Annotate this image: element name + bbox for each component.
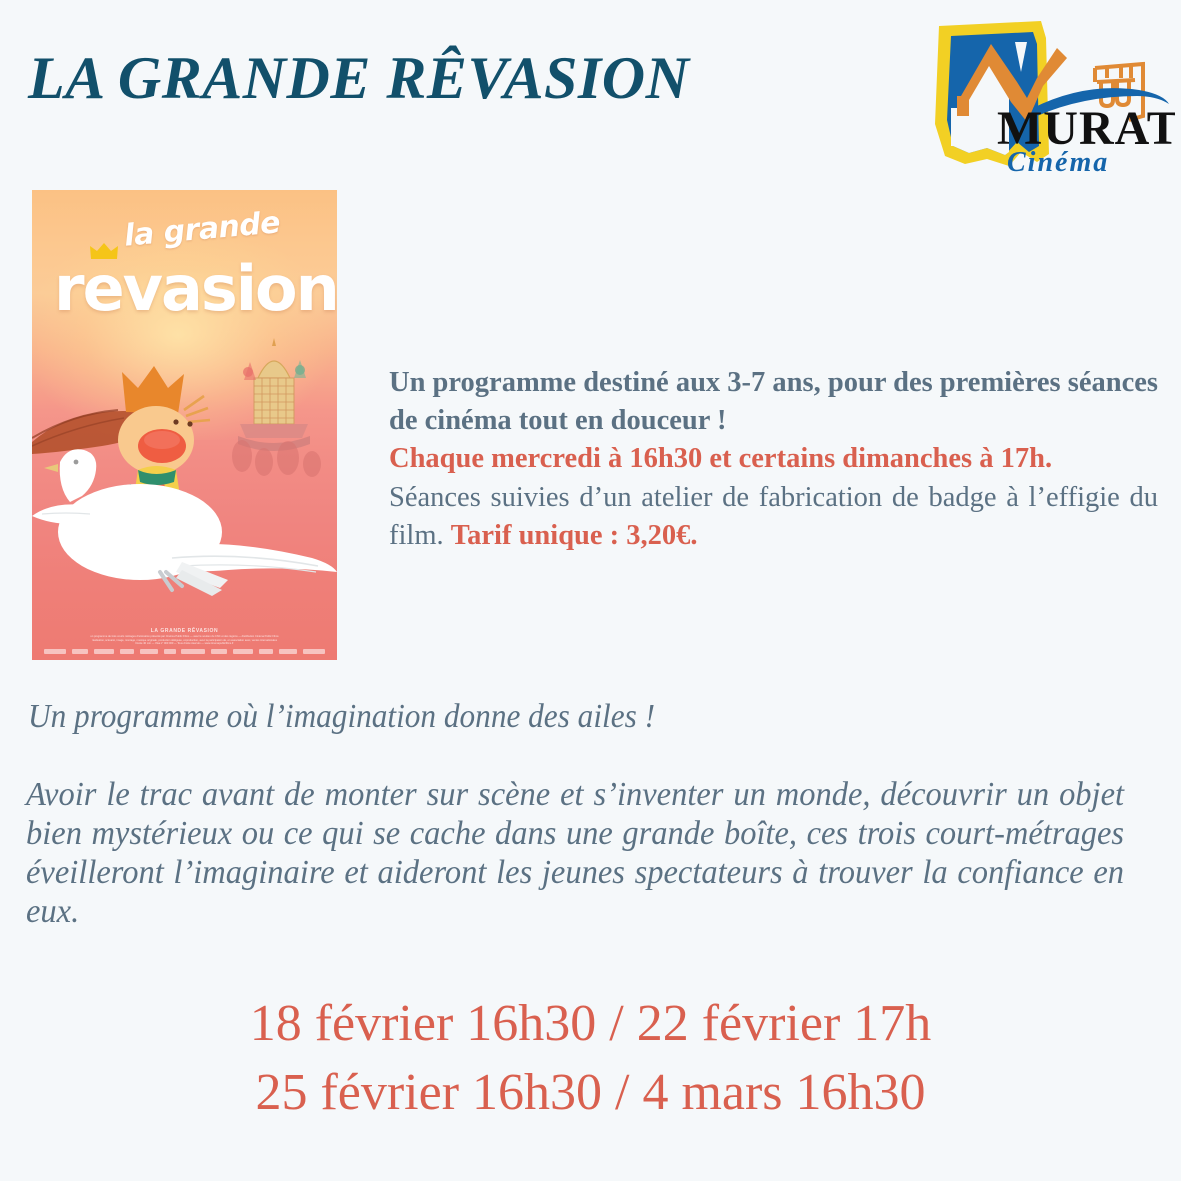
logo-tagline-text: Cinéma: [1007, 147, 1109, 176]
poster-credits-logos: [40, 649, 329, 654]
screening-dates: 18 février 16h30 / 22 février 17h 25 fév…: [0, 990, 1181, 1127]
intro-line-2: Chaque mercredi à 16h30 et certains dima…: [389, 440, 1158, 478]
film-poster-image: la grande revasion: [32, 190, 337, 660]
intro-line-4: Tarif unique : 3,20€.: [451, 520, 698, 551]
synopsis-text: Avoir le trac avant de monter sur scène …: [26, 776, 1124, 931]
page-title: LA GRANDE RÊVASION: [28, 44, 689, 113]
murat-cinema-logo[interactable]: MURAT Cinéma: [925, 4, 1175, 176]
intro-text-block: Un programme destiné aux 3-7 ans, pour d…: [389, 364, 1158, 555]
dates-line-2: 25 février 16h30 / 4 mars 16h30: [0, 1059, 1181, 1128]
poster-title-big: revasion: [54, 252, 337, 325]
logo-svg: MURAT Cinéma: [925, 4, 1175, 176]
intro-line-3-4: Séances suivies d’un atelier de fabricat…: [389, 479, 1158, 555]
poster-credits-headline: LA GRANDE RÊVASION: [40, 628, 329, 635]
dates-line-1: 18 février 16h30 / 22 février 17h: [0, 990, 1181, 1059]
poster-header: LA GRANDE RÊVASION: [0, 0, 1181, 180]
poster-credits: LA GRANDE RÊVASION un programme de trois…: [40, 628, 329, 655]
tagline: Un programme où l’imagination donne des …: [28, 698, 1058, 736]
poster-credits-body3: Durée 40 min — Visa n° 000 000 — Tous dr…: [40, 642, 329, 646]
poster-white-bird: [32, 440, 337, 620]
intro-line-1: Un programme destiné aux 3-7 ans, pour d…: [389, 364, 1158, 440]
synopsis: Avoir le trac avant de monter sur scène …: [26, 776, 1124, 931]
